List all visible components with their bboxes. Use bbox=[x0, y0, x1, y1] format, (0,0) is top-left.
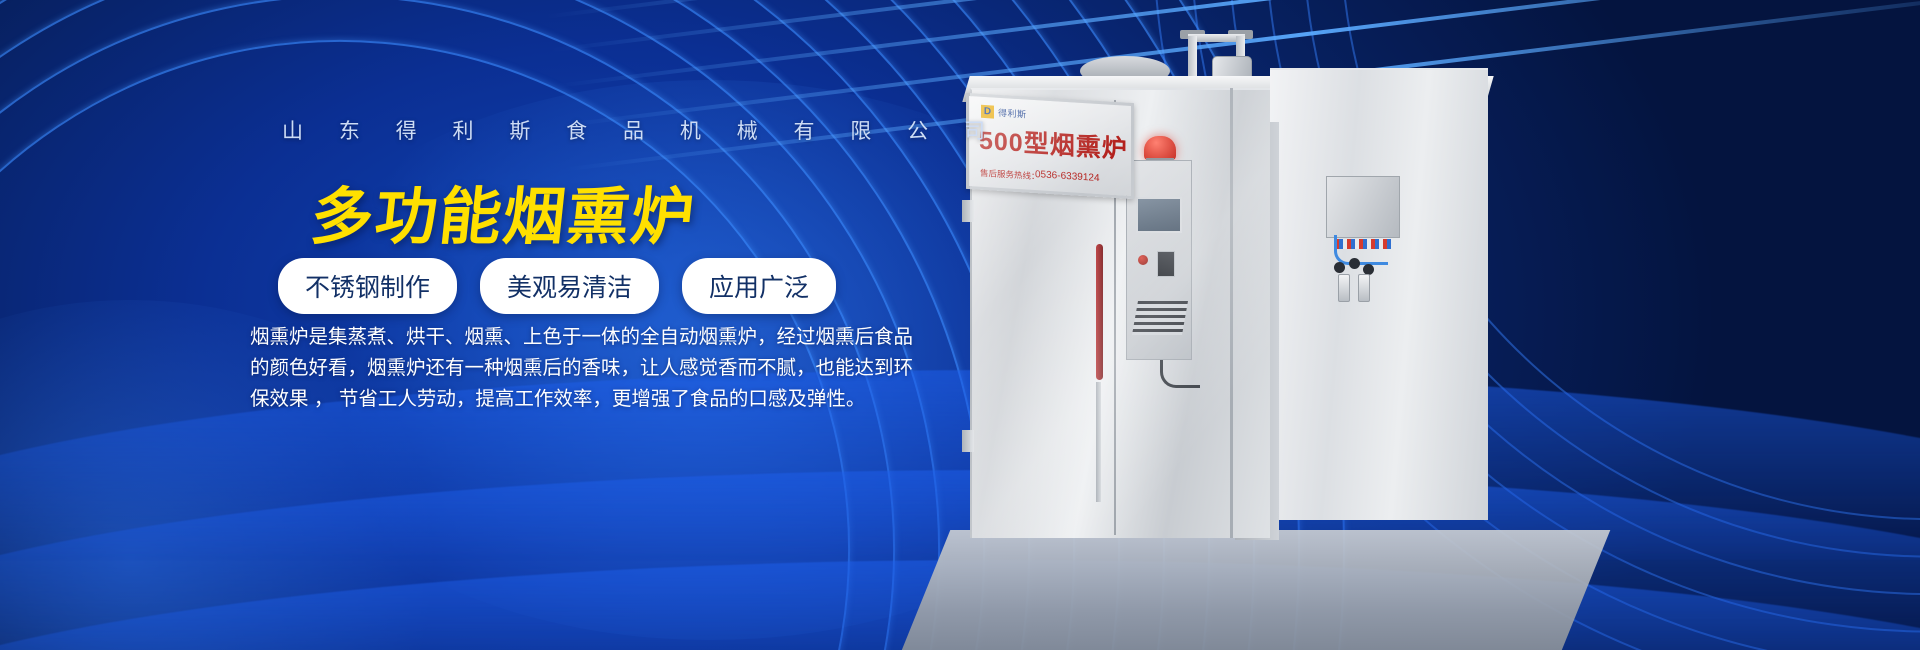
banner-text-block: 山 东 得 利 斯 食 品 机 械 有 限 公 司 多功能烟熏炉 不锈钢制作 美… bbox=[0, 0, 900, 650]
panel-vents bbox=[1132, 301, 1188, 335]
product-description: 烟熏炉是集蒸煮、烘干、烟熏、上色于一体的全自动烟熏炉，经过烟熏后食品 的颜色好看… bbox=[250, 322, 830, 415]
door-seam-right bbox=[1230, 88, 1233, 538]
electrical-junction-box bbox=[1326, 176, 1400, 238]
door-hinge-top bbox=[962, 200, 974, 222]
door-handle-lower bbox=[1096, 382, 1101, 502]
valve-cluster bbox=[1334, 258, 1380, 298]
hotline-number: 0536-6339124 bbox=[1035, 169, 1100, 184]
control-panel-screen bbox=[1136, 197, 1182, 233]
valve-knob-1 bbox=[1334, 262, 1345, 273]
power-cable bbox=[1160, 360, 1200, 388]
door-hinge-bottom bbox=[962, 430, 974, 452]
page-title: 多功能烟熏炉 bbox=[307, 166, 700, 256]
product-image-smokehouse-oven: D 得利斯 500型烟熏炉 售后服务热线： 0536-6339124 bbox=[930, 30, 1570, 650]
feature-pill-list: 不锈钢制作 美观易清洁 应用广泛 bbox=[278, 258, 836, 314]
feature-pill-wide-use[interactable]: 应用广泛 bbox=[682, 258, 836, 314]
floor-surface bbox=[890, 530, 1611, 650]
emergency-stop-knob bbox=[1138, 255, 1148, 265]
product-banner: 山 东 得 利 斯 食 品 机 械 有 限 公 司 多功能烟熏炉 不锈钢制作 美… bbox=[0, 0, 1920, 650]
machine-nameplate-sign: D 得利斯 500型烟熏炉 售后服务热线： 0536-6339124 bbox=[966, 93, 1134, 199]
alarm-beacon-light bbox=[1144, 136, 1176, 160]
feature-pill-easy-clean[interactable]: 美观易清洁 bbox=[480, 258, 659, 314]
description-line-1: 烟熏炉是集蒸煮、烘干、烟熏、上色于一体的全自动烟熏炉，经过烟熏后食品 bbox=[250, 322, 830, 353]
control-panel bbox=[1126, 160, 1192, 360]
description-line-2: 的颜色好看，烟熏炉还有一种烟熏后的香味，让人感觉香而不腻，也能达到环 bbox=[250, 353, 830, 384]
feature-pill-stainless[interactable]: 不锈钢制作 bbox=[278, 258, 457, 314]
machine-model-label: 500型烟熏炉 bbox=[979, 121, 1128, 166]
pressure-gauge-right bbox=[1358, 274, 1370, 302]
hotline-label: 售后服务热线： bbox=[980, 167, 1040, 183]
description-line-3: 保效果 ， 节省工人劳动，提高工作效率，更增强了食品的口感及弹性。 bbox=[250, 384, 830, 415]
company-name: 山 东 得 利 斯 食 品 机 械 有 限 公 司 bbox=[282, 115, 1000, 145]
pressure-gauge-left bbox=[1338, 274, 1350, 302]
brand-logo-word: 得利斯 bbox=[998, 106, 1027, 121]
control-switch bbox=[1157, 251, 1175, 277]
door-handle-red bbox=[1096, 244, 1103, 380]
valve-knob-2 bbox=[1349, 258, 1360, 269]
